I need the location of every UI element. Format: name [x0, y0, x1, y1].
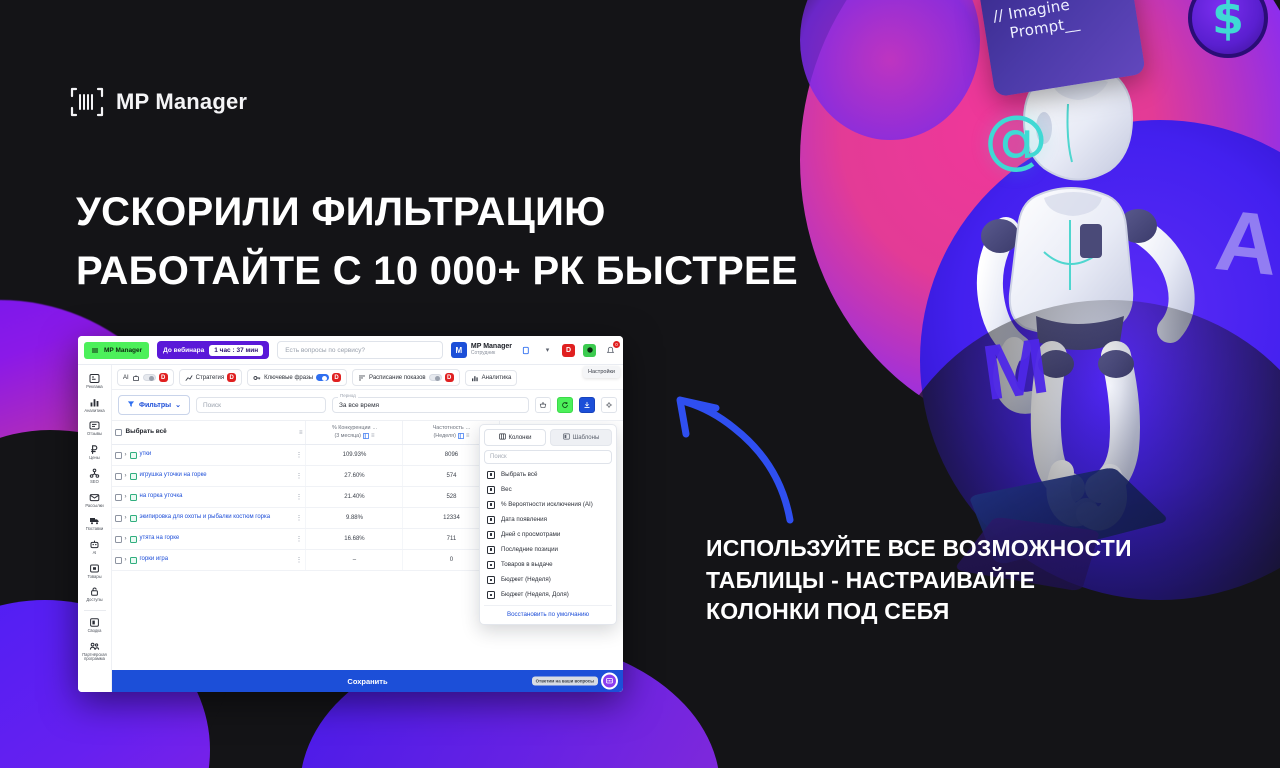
sidebar-rail: Реклама Аналитика Отзывы Цены SEO: [78, 365, 112, 692]
sidebar-label: Цены: [89, 456, 100, 461]
keywords-table-area: Выбрать всё ≡ % Конкуренции... (3 месяца…: [112, 421, 623, 670]
row-competition: 109.93%: [306, 445, 403, 466]
item-checkbox[interactable]: [487, 486, 495, 494]
row-menu-icon[interactable]: ⋮: [295, 451, 302, 459]
brand-name: MP Manager: [116, 89, 247, 115]
sidebar-label: Доступы: [86, 598, 102, 603]
chip-badge[interactable]: D: [227, 373, 236, 382]
item-label: Последние позиции: [501, 546, 558, 554]
code-line-2: Prompt__: [995, 6, 1128, 45]
row-checkbox[interactable]: [115, 494, 122, 501]
chip-badge[interactable]: D: [159, 373, 168, 382]
period-field-label: Период: [338, 393, 358, 398]
mail-icon: [89, 492, 100, 503]
expand-icon[interactable]: ›: [125, 515, 127, 521]
decor-letter-m: M: [978, 326, 1053, 412]
dropdown-item-appearance-date[interactable]: Дата появления: [484, 512, 612, 527]
period-value: За все время: [339, 402, 379, 409]
robot-icon: [132, 374, 140, 382]
sidebar-item-supply[interactable]: Поставки: [78, 511, 111, 535]
item-label: Бюджет (Неделя, Доля): [501, 591, 569, 599]
dollar-sign: $: [1212, 0, 1244, 45]
webinar-label: До вебинара: [163, 347, 204, 354]
row-competition: 21.40%: [306, 487, 403, 508]
sidebar-item-analytics[interactable]: Аналитика: [78, 393, 111, 417]
expand-icon[interactable]: ›: [125, 494, 127, 500]
sort-icon[interactable]: ≡: [371, 432, 375, 440]
barcode-icon: [70, 87, 104, 117]
item-checkbox[interactable]: [487, 516, 495, 524]
filters-label: Фильтры: [139, 402, 171, 409]
sidebar-label: Сводка: [88, 629, 102, 634]
dropdown-item-products-in-results[interactable]: Товаров в выдаче: [484, 557, 612, 572]
expand-icon[interactable]: ›: [125, 473, 127, 479]
row-checkbox[interactable]: [115, 536, 122, 543]
sidebar-label: Партнёрская программа: [79, 653, 110, 662]
dropdown-list: Выбрать всё Вес % Вероятности исключения…: [484, 467, 612, 603]
period-select[interactable]: Период За все время: [332, 397, 529, 413]
table-search-input[interactable]: Поиск: [196, 397, 326, 413]
chip-badge[interactable]: D: [445, 373, 454, 382]
column-title-line1: % Конкуренции: [332, 425, 371, 432]
dropdown-item-days-with-views[interactable]: Дней с просмотрами: [484, 527, 612, 542]
row-keyword-cell[interactable]: › горки игра ⋮: [112, 550, 306, 571]
row-checkbox[interactable]: [115, 452, 122, 459]
account-text: MP Manager Сотрудник: [471, 343, 512, 356]
item-label: Дата появления: [501, 516, 547, 524]
robot-illustration: [940, 20, 1240, 540]
chip-label: Ключевые фразы: [264, 375, 313, 381]
pink-gradient-blob: [800, 0, 1280, 440]
chip-toggle[interactable]: [429, 374, 442, 381]
item-label: Товаров в выдаче: [501, 561, 553, 569]
sidebar-item-access[interactable]: Доступы: [78, 582, 111, 606]
sidebar-label: Товары: [87, 575, 101, 580]
save-button[interactable]: Сохранить: [347, 677, 387, 686]
filters-button[interactable]: Фильтры ⌄: [118, 395, 190, 415]
chat-icon[interactable]: [601, 673, 618, 690]
robot-icon: [89, 539, 100, 550]
sidebar-label: Аналитика: [84, 409, 104, 414]
headline-line-1: Ускорили фильтрацию: [76, 190, 606, 234]
row-keyword[interactable]: на горка уточка: [140, 493, 183, 501]
row-keyword[interactable]: экипировка для охоты и рыбалки костюм го…: [140, 514, 271, 522]
chip-keywords[interactable]: Ключевые фразы D: [247, 369, 347, 386]
chip-ai[interactable]: AI D: [117, 369, 174, 386]
item-checkbox[interactable]: [487, 576, 495, 584]
row-keyword[interactable]: игрушка уточки на горке: [140, 472, 207, 480]
sidebar-item-partner-program[interactable]: Партнёрская программа: [78, 637, 111, 665]
restore-defaults-button[interactable]: Восстановить по умолчанию: [484, 605, 612, 620]
blue-gradient-blob: [920, 120, 1280, 600]
key-icon: [253, 374, 261, 382]
status-badge: [130, 494, 137, 501]
status-badge: [130, 536, 137, 543]
expand-icon[interactable]: ›: [125, 452, 127, 458]
basket-icon[interactable]: [535, 397, 551, 413]
chip-toggle[interactable]: [143, 374, 156, 381]
truck-icon: [89, 515, 100, 526]
item-label: Дней с просмотрами: [501, 531, 560, 539]
app-header: MP Manager До вебинара 1 час : 37 мин Ес…: [78, 336, 623, 365]
webinar-time: 1 час : 37 мин: [209, 345, 263, 356]
row-menu-icon[interactable]: ⋮: [295, 514, 302, 522]
bar-chart-icon: [89, 397, 100, 408]
support-tooltip: Ответим на ваши вопросы: [532, 677, 598, 686]
chip-schedule[interactable]: Расписание показов D: [352, 369, 460, 386]
tab-columns[interactable]: Колонки: [484, 429, 546, 446]
row-competition: –: [306, 550, 403, 571]
promo-banner: // Imagine Prompt__ @ $ M A: [0, 0, 1280, 768]
dropdown-search-placeholder: Поиск: [490, 454, 507, 460]
app-main: AI D Стратегия D Ключевые фразы: [112, 365, 623, 692]
row-keyword-cell[interactable]: › игрушка уточки на горке ⋮: [112, 466, 306, 487]
review-icon: [89, 420, 100, 431]
row-keyword-cell[interactable]: › экипировка для охоты и рыбалки костюм …: [112, 508, 306, 529]
item-label: Бюджет (Неделя): [501, 576, 551, 584]
row-menu-icon[interactable]: ⋮: [295, 556, 302, 564]
app-logo-label: MP Manager: [104, 347, 142, 354]
app-logo-button[interactable]: MP Manager: [84, 342, 149, 359]
sidebar-item-products[interactable]: Товары: [78, 559, 111, 583]
dropdown-item-weight[interactable]: Вес: [484, 482, 612, 497]
sidebar-item-summary[interactable]: Сводка: [78, 613, 111, 637]
chevron-down-icon[interactable]: ▾: [541, 344, 554, 357]
tab-templates[interactable]: Шаблоны: [550, 429, 612, 446]
row-menu-icon[interactable]: ⋮: [295, 535, 302, 543]
lock-icon: [89, 586, 100, 597]
row-keyword-cell[interactable]: › утята на горке ⋮: [112, 529, 306, 550]
item-label: Вес: [501, 486, 512, 494]
callout-text: Используйте все возможности таблицы - на…: [706, 533, 1206, 628]
row-keyword[interactable]: утки: [140, 451, 152, 459]
dropdown-item-budget-week-share[interactable]: Бюджет (Неделя, Доля): [484, 588, 612, 603]
callout-line-3: колонки под себя: [706, 596, 1206, 628]
sidebar-label: AI: [93, 551, 97, 556]
columns-icon: [499, 433, 506, 442]
sidebar-label: SEO: [90, 480, 99, 485]
account-role: Сотрудник: [471, 351, 512, 357]
badge-d-icon[interactable]: D: [562, 344, 575, 357]
chip-strategy[interactable]: Стратегия D: [179, 369, 242, 386]
dropdown-item-exclusion-probability[interactable]: % Вероятности исключения (AI): [484, 497, 612, 512]
tab-templates-label: Шаблоны: [573, 435, 600, 441]
decor-letter-a: A: [1212, 197, 1280, 289]
sidebar-label: Реклама: [86, 385, 102, 390]
column-title-line2: (Неделя): [434, 433, 456, 440]
support-search-input[interactable]: Есть вопросы по сервису?: [277, 341, 443, 359]
sidebar-item-mailing[interactable]: Рассылки: [78, 488, 111, 512]
row-checkbox[interactable]: [115, 473, 122, 480]
chart-line-icon: [185, 374, 193, 382]
violet-glow-blob: [800, 0, 980, 140]
item-label: Выбрать всё: [501, 471, 537, 479]
bar-chart-icon: [471, 374, 479, 382]
gear-icon[interactable]: [601, 397, 617, 413]
column-title-line1: Частотность: [433, 425, 464, 432]
sidebar-divider: [84, 610, 106, 611]
row-menu-icon[interactable]: ⋮: [295, 472, 302, 480]
item-checkbox[interactable]: [487, 471, 495, 479]
bell-icon[interactable]: 0: [604, 344, 617, 357]
status-badge: [130, 473, 137, 480]
save-bar: Сохранить Ответим на ваши вопросы: [112, 670, 623, 692]
headline-line-2: Работайте с 10 000+ РК быстрее: [76, 242, 798, 301]
sidebar-label: Поставки: [86, 527, 104, 532]
chip-label: AI: [123, 375, 129, 381]
box-icon: [89, 563, 100, 574]
row-keyword-cell[interactable]: › утки ⋮: [112, 445, 306, 466]
column-select-all[interactable]: Выбрать всё ≡: [112, 421, 306, 445]
download-icon[interactable]: [579, 397, 595, 413]
item-checkbox[interactable]: [487, 561, 495, 569]
callout-line-2: таблицы - настраивайте: [706, 565, 1206, 597]
select-all-label: Выбрать всё: [126, 428, 167, 437]
column-trunc: ...: [466, 425, 471, 432]
code-line-1: // Imagine: [992, 0, 1125, 26]
page-headline: Ускорили фильтрацию Работайте с 10 000+ …: [76, 183, 798, 301]
row-keyword[interactable]: горки игра: [140, 556, 169, 564]
sidebar-item-reviews[interactable]: Отзывы: [78, 416, 111, 440]
item-label: % Вероятности исключения (AI): [501, 501, 593, 509]
barcode-icon-small: [91, 346, 100, 355]
app-screenshot: MP Manager До вебинара 1 час : 37 мин Ес…: [78, 336, 623, 692]
item-checkbox[interactable]: [487, 591, 495, 599]
at-symbol-icon: @: [984, 108, 1048, 172]
filter-toolbar: Фильтры ⌄ Поиск Период За все время: [112, 390, 623, 421]
dropdown-item-select-all[interactable]: Выбрать всё: [484, 467, 612, 482]
sidebar-item-ai[interactable]: AI: [78, 535, 111, 559]
expand-icon[interactable]: ›: [125, 557, 127, 563]
summary-icon: [89, 617, 100, 628]
grid-dots-icon: [358, 374, 366, 382]
right-fade-overlay: [880, 300, 1280, 730]
chip-label: Расписание показов: [369, 375, 426, 381]
sidebar-item-prices[interactable]: Цены: [78, 440, 111, 464]
chevron-down-icon: ⌄: [175, 401, 181, 409]
tab-columns-label: Колонки: [509, 435, 532, 441]
chip-label: Стратегия: [196, 375, 224, 381]
row-competition: 16.68%: [306, 529, 403, 550]
item-checkbox[interactable]: [487, 531, 495, 539]
table-search-placeholder: Поиск: [203, 402, 221, 409]
notification-badge: 0: [613, 341, 620, 348]
row-keyword[interactable]: утята на горке: [140, 535, 180, 543]
seo-icon: [89, 468, 100, 479]
chip-toggle[interactable]: [316, 374, 329, 381]
sidebar-label: Рассылки: [85, 504, 103, 509]
columns-icon[interactable]: [458, 433, 464, 439]
curved-arrow-icon: [632, 372, 832, 532]
refresh-icon[interactable]: [557, 397, 573, 413]
row-checkbox[interactable]: [115, 515, 122, 522]
status-green-icon[interactable]: [583, 344, 596, 357]
code-card: // Imagine Prompt__: [978, 0, 1146, 97]
chip-label: Аналитика: [482, 375, 512, 381]
columns-dropdown: Колонки Шаблоны Поиск: [479, 424, 617, 625]
row-competition: 9.88%: [306, 508, 403, 529]
columns-icon[interactable]: [363, 433, 369, 439]
webinar-countdown[interactable]: До вебинара 1 час : 37 мин: [157, 341, 269, 359]
row-checkbox[interactable]: [115, 557, 122, 564]
select-all-checkbox[interactable]: [115, 429, 122, 436]
avatar: M: [451, 342, 467, 358]
expand-icon[interactable]: ›: [125, 536, 127, 542]
account-block[interactable]: M MP Manager Сотрудник: [451, 342, 512, 358]
row-menu-icon[interactable]: ⋮: [295, 493, 302, 501]
people-icon: [89, 641, 100, 652]
sidebar-item-ads[interactable]: Реклама: [78, 369, 111, 393]
template-icon: [563, 433, 570, 442]
sort-icon[interactable]: ≡: [299, 429, 303, 437]
column-trunc: ...: [373, 425, 378, 432]
ruble-icon: [89, 444, 100, 455]
dollar-coin-icon: $: [1188, 0, 1268, 58]
status-badge: [130, 557, 137, 564]
dropdown-item-last-positions[interactable]: Последние позиции: [484, 542, 612, 557]
support-search-placeholder: Есть вопросы по сервису?: [285, 347, 365, 354]
ads-icon: [89, 373, 100, 384]
settings-tooltip: Настройки: [583, 366, 620, 378]
sort-icon[interactable]: ≡: [466, 432, 470, 440]
status-badge: [130, 515, 137, 522]
sidebar-label: Отзывы: [87, 432, 102, 437]
callout-line-1: Используйте все возможности: [706, 533, 1206, 565]
dropdown-item-budget-week[interactable]: Бюджет (Неделя): [484, 572, 612, 587]
copy-icon[interactable]: [520, 344, 533, 357]
dropdown-tabs: Колонки Шаблоны: [484, 429, 612, 446]
item-checkbox[interactable]: [487, 546, 495, 554]
dropdown-search-input[interactable]: Поиск: [484, 450, 612, 464]
status-badge: [130, 452, 137, 459]
row-competition: 27.60%: [306, 466, 403, 487]
chip-badge[interactable]: D: [332, 373, 341, 382]
funnel-icon: [127, 400, 135, 410]
row-keyword-cell[interactable]: › на горка уточка ⋮: [112, 487, 306, 508]
column-competition[interactable]: % Конкуренции... (3 месяца) ≡: [306, 421, 403, 445]
brand-logo: MP Manager: [70, 87, 247, 117]
feature-chips-row: AI D Стратегия D Ключевые фразы: [112, 365, 623, 390]
item-checkbox[interactable]: [487, 501, 495, 509]
app-body: Реклама Аналитика Отзывы Цены SEO: [78, 365, 623, 692]
sidebar-item-seo[interactable]: SEO: [78, 464, 111, 488]
column-title-line2: (3 месяца): [334, 433, 361, 440]
chip-analytics[interactable]: Аналитика: [465, 370, 518, 386]
